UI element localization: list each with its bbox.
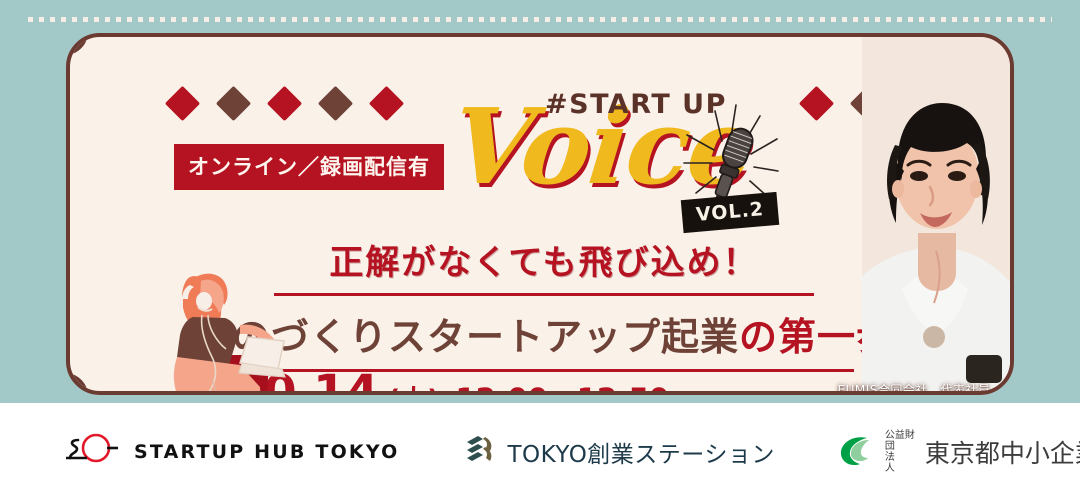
logo-smes-prefix-line2: 法 人 <box>885 452 915 474</box>
poster-card: オンライン／録画配信有 Voice #START UP <box>66 33 1014 395</box>
speaker-caption: EUMIS合同会社 代表社員 爪長 季美 氏 <box>824 381 1004 395</box>
logo-tokyo-sogyo-station-label: TOKYO創業ステーション <box>507 435 774 469</box>
woman-with-laptop-illustration <box>152 259 322 395</box>
logo-startup-hub-tokyo-label: STARTUP HUB TOKYO <box>134 441 399 463</box>
diamond-icon <box>369 86 404 121</box>
diamond-row-left <box>170 91 399 116</box>
diamond-icon <box>799 86 834 121</box>
logo-startup-hub-tokyo: STARTUP HUB TOKYO <box>62 431 399 472</box>
dotted-divider <box>28 17 1052 22</box>
online-delivery-badge: オンライン／録画配信有 <box>174 144 444 190</box>
poster-root: オンライン／録画配信有 Voice #START UP <box>0 0 1080 500</box>
volume-badge: VOL.2 <box>681 192 780 233</box>
diamond-icon <box>216 86 251 121</box>
tokyo-sogyo-station-mark-icon <box>463 432 497 471</box>
diamond-icon <box>318 86 353 121</box>
logo-smes-prefix: 公益財団 法 人 <box>885 430 915 474</box>
footer-logos: STARTUP HUB TOKYO TOKYO創業ステーション <box>0 403 1080 500</box>
startup-hub-mark-icon <box>62 431 124 472</box>
headline-rule-top <box>274 293 814 296</box>
event-day: (火) <box>388 378 440 395</box>
speaker-photo <box>862 37 1010 395</box>
diamond-icon <box>165 86 200 121</box>
logo-tokyo-smes-support-center-label: 東京都中小企業振興公社 <box>925 434 1080 470</box>
tokyo-smes-support-center-mark-icon <box>837 432 875 471</box>
event-time: 12:00〜12:50 <box>455 376 669 395</box>
diamond-icon <box>267 86 302 121</box>
logo-tokyo-sogyo-station: TOKYO創業ステーション <box>463 432 774 471</box>
logo-smes-prefix-line1: 公益財団 <box>885 430 915 452</box>
logo-tokyo-smes-support-center: 公益財団 法 人 東京都中小企業振興公社 <box>837 430 1080 474</box>
corner-notch-top-left <box>66 33 88 55</box>
speaker-organization: EUMIS合同会社 代表社員 <box>824 381 1004 395</box>
